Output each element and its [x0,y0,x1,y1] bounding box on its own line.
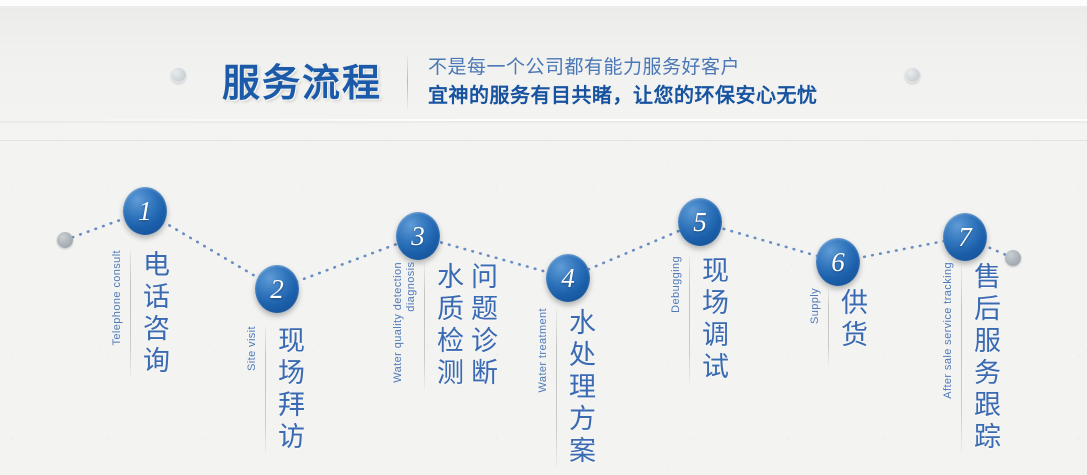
step-label-4: Water treatment 水处理方案 [537,308,597,468]
step-label-en-5: Debugging [670,256,683,313]
label-divider-7 [961,262,962,454]
flow-endpoint-end [1005,250,1021,266]
label-divider-2 [265,326,266,454]
step-node-3[interactable]: 3 [396,212,440,260]
step-label-cn-5: 现场调试 [696,256,730,384]
step-label-cn-wrap-4: 水处理方案 [563,308,597,468]
step-label-cn-wrap-6: 供货 [835,288,869,352]
step-label-cn-4: 水处理方案 [563,308,597,468]
step-label-cn-wrap-7: 售后服务跟踪 [968,262,1002,454]
step-label-cn-1: 电话咨询 [137,250,171,378]
label-divider-1 [130,250,131,378]
step-label-cn-wrap-3: 问题诊断 水质检测 [431,262,499,390]
step-node-2[interactable]: 2 [255,265,299,313]
service-process-banner: 服务流程 不是每一个公司都有能力服务好客户 宜神的服务有目共睹，让您的环保安心无… [0,0,1087,475]
step-node-1[interactable]: 1 [123,187,167,235]
label-divider-3 [424,262,425,390]
step-label-en-1: Telephone consult [111,250,124,345]
step-label-en-3-line2: diagnosis [405,262,417,312]
step-label-en-7: After sale service tracking [942,262,955,399]
step-label-1: Telephone consult 电话咨询 [111,250,171,378]
step-node-7[interactable]: 7 [943,213,987,261]
step-label-2: Site visit 现场拜访 [246,326,306,454]
label-divider-6 [828,288,829,366]
step-label-7: After sale service tracking 售后服务跟踪 [942,262,1002,454]
step-label-en-6: Supply [809,288,822,324]
step-node-5[interactable]: 5 [678,198,722,246]
step-label-5: Debugging 现场调试 [670,256,730,384]
label-divider-4 [556,308,557,468]
step-label-3: Water quality detectiondiagnosis 问题诊断 水质… [392,262,499,390]
step-node-4[interactable]: 4 [546,254,590,302]
step-node-6[interactable]: 6 [816,238,860,286]
step-label-en-3-line1: Water quality detection [392,262,404,383]
step-label-cn-2: 现场拜访 [272,326,306,454]
step-label-en-3: Water quality detectiondiagnosis [392,262,418,383]
step-label-cn-3-col2: 水质检测 [431,262,465,390]
step-label-cn-wrap-5: 现场调试 [696,256,730,384]
step-label-cn-3-col1: 问题诊断 [465,262,499,390]
label-divider-5 [689,256,690,384]
step-label-cn-wrap-2: 现场拜访 [272,326,306,454]
step-label-cn-7: 售后服务跟踪 [968,262,1002,454]
flow-endpoint-start [57,232,73,248]
step-label-en-4: Water treatment [537,308,550,392]
step-label-cn-wrap-1: 电话咨询 [137,250,171,378]
step-label-6: Supply 供货 [809,288,869,366]
step-label-cn-6: 供货 [835,288,869,352]
step-label-en-2: Site visit [246,326,259,371]
